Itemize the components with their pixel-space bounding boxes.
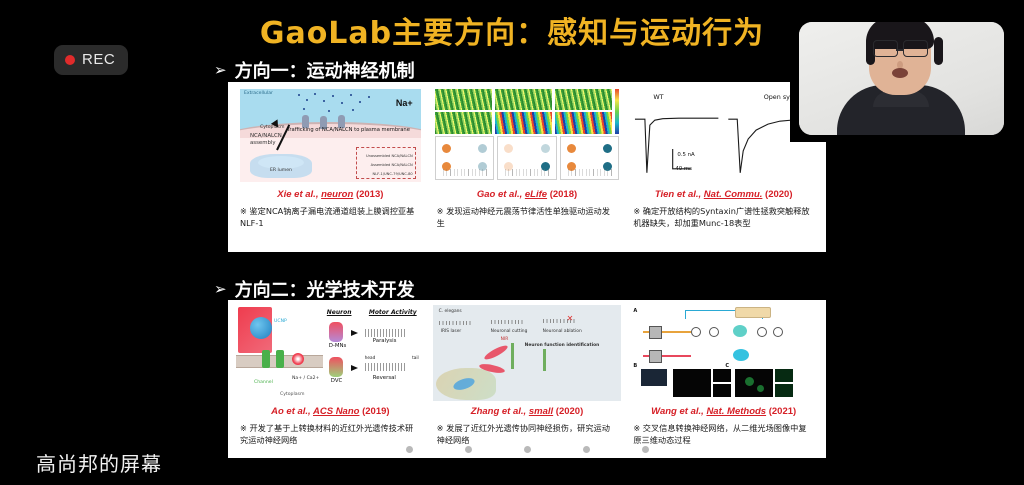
ref-author-4: Ao et al., [271,406,311,417]
figure-reference-6: Wang et al., Nat. Methods (2021) [629,406,818,417]
fig5-step-3: Neuronal ablation [543,329,582,334]
ref-year-2: (2018) [550,189,577,200]
ref-year-3: (2020) [765,189,792,200]
section-heading-1-text: 方向一：运动神经机制 [235,57,415,83]
fig5-label-organism: C. elegans [439,309,462,314]
fig4-neuron-2: DVC [331,378,343,384]
fig4-col-motor-activity: Motor Activity [369,309,417,316]
fig1-key-3: NLF-1/UNC-79/UNC-80 [373,172,413,176]
fig5-step-4: Neuron function identification [525,343,600,348]
fig4-label-head: head [365,355,375,360]
figure-reference-3: Tien et al., Nat. Commu. (2020) [629,189,818,200]
nalcn-trafficking-diagram: Extracellular Na+ Cytoplasm NCA/NA [236,87,425,184]
figure-caption-2: ※ 发现运动神经元震荡节律活性单独驱动运动发生 [433,206,622,230]
progress-dot [406,446,413,453]
ref-author-5: Zhang et al., [471,406,526,417]
ref-year-1: (2013) [356,189,383,200]
ref-year-6: (2021) [769,406,796,417]
motor-neuron-oscillation-figure [433,87,622,184]
fig6-panel-a: A [633,308,637,314]
presenter-mouth [892,68,908,78]
presenter-glasses-bridge [896,49,903,51]
fig1-key-1: Unassembled NCA/NALCN [366,154,413,158]
progress-dot [524,446,531,453]
slide-card-direction-1: Extracellular Na+ Cytoplasm NCA/NA [228,82,826,252]
fig4-label-ions: Na+ / Ca2+ [292,376,319,381]
fig5-step-1: IRIS laser [441,329,462,334]
section-heading-2-text: 方向二：光学技术开发 [235,276,415,302]
presenter-video-frame [799,22,1004,135]
fig1-label-na: Na+ [396,98,413,108]
fig1-key-2: Assembled NCA/NALCN [371,163,413,167]
section-heading-2: ➢ 方向二：光学技术开发 [214,276,415,302]
figure-caption-1: ※ 鉴定NCA钠离子漏电流通道组装上膜调控亚基NLF-1 [236,206,425,230]
fig3-scale-x: 40 ms [675,166,692,172]
fig1-label-trafficking: Trafficking of NCA/NALCN to plasma membr… [287,127,410,134]
fig4-neuron-1: D-MNs [329,343,347,349]
ref-journal-3: Nat. Commu. [704,189,763,200]
fig1-label-assembly: NCA/NALCN assembly [250,133,290,147]
fig4-label-cytoplasm: Cytoplasm [280,392,304,397]
figure-caption-4: ※ 开发了基于上转换材料的近红外光遗传技术研究运动神经网络 [236,423,425,447]
nir-neural-ablation-figure: C. elegans IRIS laser Neuronal cutting N… [433,305,622,401]
fig1-label-extracellular: Extracellular [244,91,273,96]
figure-caption-5: ※ 发展了近红外光遗传协同神经损伤，研究运动神经网络 [433,423,622,447]
figure-panel-wang-2021: A B C [625,305,822,458]
fig4-label-channel: Channel [254,380,273,385]
fig4-label-ucnp: UCNP [274,319,287,324]
meeting-screen-share-view: REC GaoLab主要方向：感知与运动行为 ➢ 方向一：运动神经机制 Extr… [0,0,1024,485]
slide-card-direction-2: UCNP Channel Cytoplasm Na+ / Ca2+ Neuron… [228,300,826,458]
progress-dot [642,446,649,453]
figure-reference-1: Xie et al., neuron (2013) [236,189,425,200]
figure-panel-xie-2013: Extracellular Na+ Cytoplasm NCA/NA [232,87,429,252]
figure-caption-6: ※ 交叉信息转换神经网络，从二维光场图像中复原三维动态过程 [629,423,818,447]
bullet-arrow-icon: ➢ [214,63,227,78]
figure-panel-gao-2018: Gao et al., eLife (2018) ※ 发现运动神经元震荡节律活性… [429,87,626,252]
light-field-reconstruction-figure: A B C [629,305,818,401]
fig3-label-wt: WT [653,93,663,101]
screen-share-label: 高尚邦的屏幕 [36,448,162,477]
ref-year-5: (2020) [556,406,583,417]
fig4-label-tail: tail [412,355,419,360]
ref-author-2: Gao et al., [477,189,522,200]
ref-author-6: Wang et al., [651,406,704,417]
progress-dot [583,446,590,453]
section-heading-1: ➢ 方向一：运动神经机制 [214,57,415,83]
slide-progress-dots [228,446,826,453]
figure-reference-5: Zhang et al., small (2020) [433,406,622,417]
ref-journal-2: eLife [525,189,547,200]
progress-dot [465,446,472,453]
ref-author-3: Tien et al., [655,189,701,200]
figure-reference-2: Gao et al., eLife (2018) [433,189,622,200]
fig5-label-nir: NIR [501,337,509,342]
ref-year-4: (2019) [362,406,389,417]
fig4-activity-2: Reversal [373,375,396,381]
presenter-video[interactable] [790,0,1024,142]
figure-panel-zhang-2020: C. elegans IRIS laser Neuronal cutting N… [429,305,626,458]
fig1-label-er: ER lumen [270,168,292,173]
figure-caption-3: ※ 确定开放结构的Syntaxin广谱性拯救突触释放机器缺失，却加重Munc-1… [629,206,818,230]
ucnp-optogenetics-diagram: UCNP Channel Cytoplasm Na+ / Ca2+ Neuron… [236,305,425,401]
bullet-arrow-icon-2: ➢ [214,282,227,297]
ref-journal-5: small [529,406,553,417]
fig4-activity-1: Paralysis [373,338,397,344]
fig4-col-neuron: Neuron [327,309,352,316]
recording-label: REC [82,51,115,68]
fig6-panel-b: B [633,363,637,369]
presenter-glasses-right-icon [903,40,928,57]
fig1-label-cytoplasm: Cytoplasm [260,125,284,130]
ref-journal-4: ACS Nano [313,406,359,417]
figure-panel-ao-2019: UCNP Channel Cytoplasm Na+ / Ca2+ Neuron… [232,305,429,458]
presenter-glasses-left-icon [873,40,898,57]
ref-journal-6: Nat. Methods [706,406,766,417]
fig5-step-2: Neuronal cutting [491,329,528,334]
figure-reference-4: Ao et al., ACS Nano (2019) [236,406,425,417]
ref-journal-1: neuron [321,189,353,200]
ref-author-1: Xie et al., [277,189,318,200]
fig3-scale-y: 0.5 nA [677,152,694,158]
presenter-hair-right [934,37,943,65]
record-dot-icon [65,55,75,65]
